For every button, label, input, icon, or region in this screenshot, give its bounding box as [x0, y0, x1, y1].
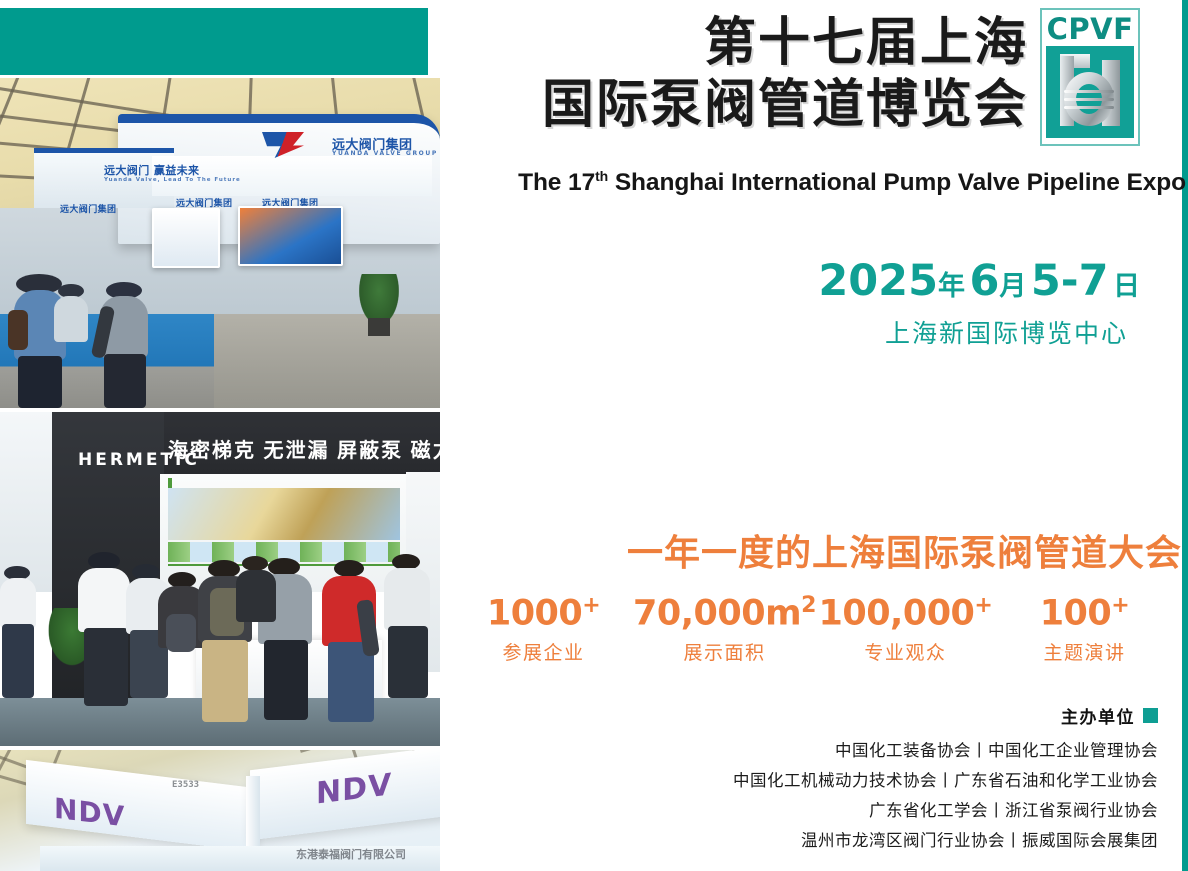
- organizer-line: 温州市龙湾区阀门行业协会丨振威国际会展集团: [458, 826, 1158, 856]
- event-date: 2025年 6月 5-7 日: [818, 256, 1140, 306]
- stat-label: 展示面积: [633, 638, 816, 665]
- event-month: 6: [969, 256, 999, 306]
- event-day-unit: 日: [1113, 271, 1140, 301]
- organizer-line: 中国化工机械动力技术协会丨广东省石油和化学工业协会: [458, 766, 1158, 796]
- teal-header-block: [0, 8, 428, 75]
- organizers-heading: 主办单位: [1061, 703, 1158, 728]
- stats-row: 1000+ 参展企业 70,000m2 展示面积 100,000+ 专业观众 1…: [454, 586, 1174, 665]
- promo-headline: 一年一度的上海国际泵阀管道大会: [446, 524, 1182, 576]
- stat-item: 1000+ 参展企业: [454, 586, 633, 665]
- stat-suffix: 2: [801, 593, 816, 618]
- event-month-unit: 月: [999, 271, 1026, 301]
- title-line-2: 国际泵阀管道博览会: [508, 74, 1028, 136]
- title-line-1: 第十七届上海: [508, 12, 1028, 74]
- booth-brand-cn-repeat: 远大阀门集团: [60, 202, 116, 215]
- stat-value: 100,000+: [816, 586, 995, 634]
- expo-poster: 远大阀门集团 YUANDA VALVE GROUP 远大阀门 赢益未来 Yuan…: [0, 0, 1188, 871]
- teal-square-marker-icon: [1143, 708, 1158, 723]
- organizer-line: 中国化工装备协会丨中国化工企业管理协会: [458, 736, 1158, 766]
- event-year: 2025: [818, 256, 938, 306]
- ndv-company-cn: 东港泰福阀门有限公司: [296, 846, 406, 862]
- subtitle-rest: Shanghai International Pump Valve Pipeli…: [608, 169, 1186, 196]
- ndv-booth-photo: NDV NDV E3533 东港泰福阀门有限公司: [0, 750, 440, 871]
- content-column: CPVF 第十七届上海 国际泵阀管道博览会 The 17th Shanghai …: [440, 0, 1188, 871]
- hermetic-banner-cn: 海密梯克 无泄漏 屏蔽泵 磁力泵: [168, 434, 440, 463]
- stat-value: 100+: [995, 586, 1174, 634]
- booth-brand-en: YUANDA VALVE GROUP: [332, 150, 438, 157]
- hermetic-booth-photo: HERMETIC 海密梯克 无泄漏 屏蔽泵 磁力泵: [0, 412, 440, 746]
- pump-impeller-mark-icon: [1046, 46, 1134, 138]
- page-title: 第十七届上海 国际泵阀管道博览会: [508, 12, 1028, 136]
- yuanda-valve-booth-photo: 远大阀门集团 YUANDA VALVE GROUP 远大阀门 赢益未来 Yuan…: [0, 78, 440, 408]
- stat-suffix: +: [1111, 593, 1129, 618]
- event-days: 5-7: [1031, 256, 1109, 306]
- stat-label: 参展企业: [454, 638, 633, 665]
- organizers-list: 中国化工装备协会丨中国化工企业管理协会 中国化工机械动力技术协会丨广东省石油和化…: [458, 736, 1158, 856]
- cpvf-logo: CPVF: [1040, 8, 1140, 146]
- organizers-heading-text: 主办单位: [1061, 703, 1135, 728]
- event-year-unit: 年: [938, 271, 965, 301]
- stat-suffix: +: [582, 593, 600, 618]
- stat-value: 1000+: [454, 586, 633, 634]
- booth-display-panel: [152, 208, 220, 268]
- photo-column: 远大阀门集团 YUANDA VALVE GROUP 远大阀门 赢益未来 Yuan…: [0, 0, 440, 871]
- booth-number: E3533: [172, 780, 199, 790]
- booth-slogan-cn: 远大阀门 赢益未来: [104, 162, 199, 178]
- stat-value: 70,000m2: [633, 586, 816, 634]
- subtitle-ordinal: th: [595, 168, 608, 184]
- right-accent-stripe: [1182, 0, 1188, 871]
- stat-suffix: +: [974, 593, 992, 618]
- stat-item: 70,000m2 展示面积: [633, 586, 816, 665]
- cpvf-logo-text: CPVF: [1046, 14, 1134, 44]
- stat-label: 专业观众: [816, 638, 995, 665]
- stat-item: 100+ 主题演讲: [995, 586, 1174, 665]
- organizer-line: 广东省化工学会丨浙江省泵阀行业协会: [458, 796, 1158, 826]
- subtitle-prefix: The 17: [518, 169, 595, 196]
- event-venue: 上海新国际博览中心: [885, 314, 1128, 350]
- page-subtitle-en: The 17th Shanghai International Pump Val…: [444, 168, 1188, 197]
- stat-label: 主题演讲: [995, 638, 1174, 665]
- booth-slogan-en: Yuanda Valve, Lead To The Future: [104, 177, 241, 183]
- stat-item: 100,000+ 专业观众: [816, 586, 995, 665]
- booth-display-screen: [238, 206, 343, 266]
